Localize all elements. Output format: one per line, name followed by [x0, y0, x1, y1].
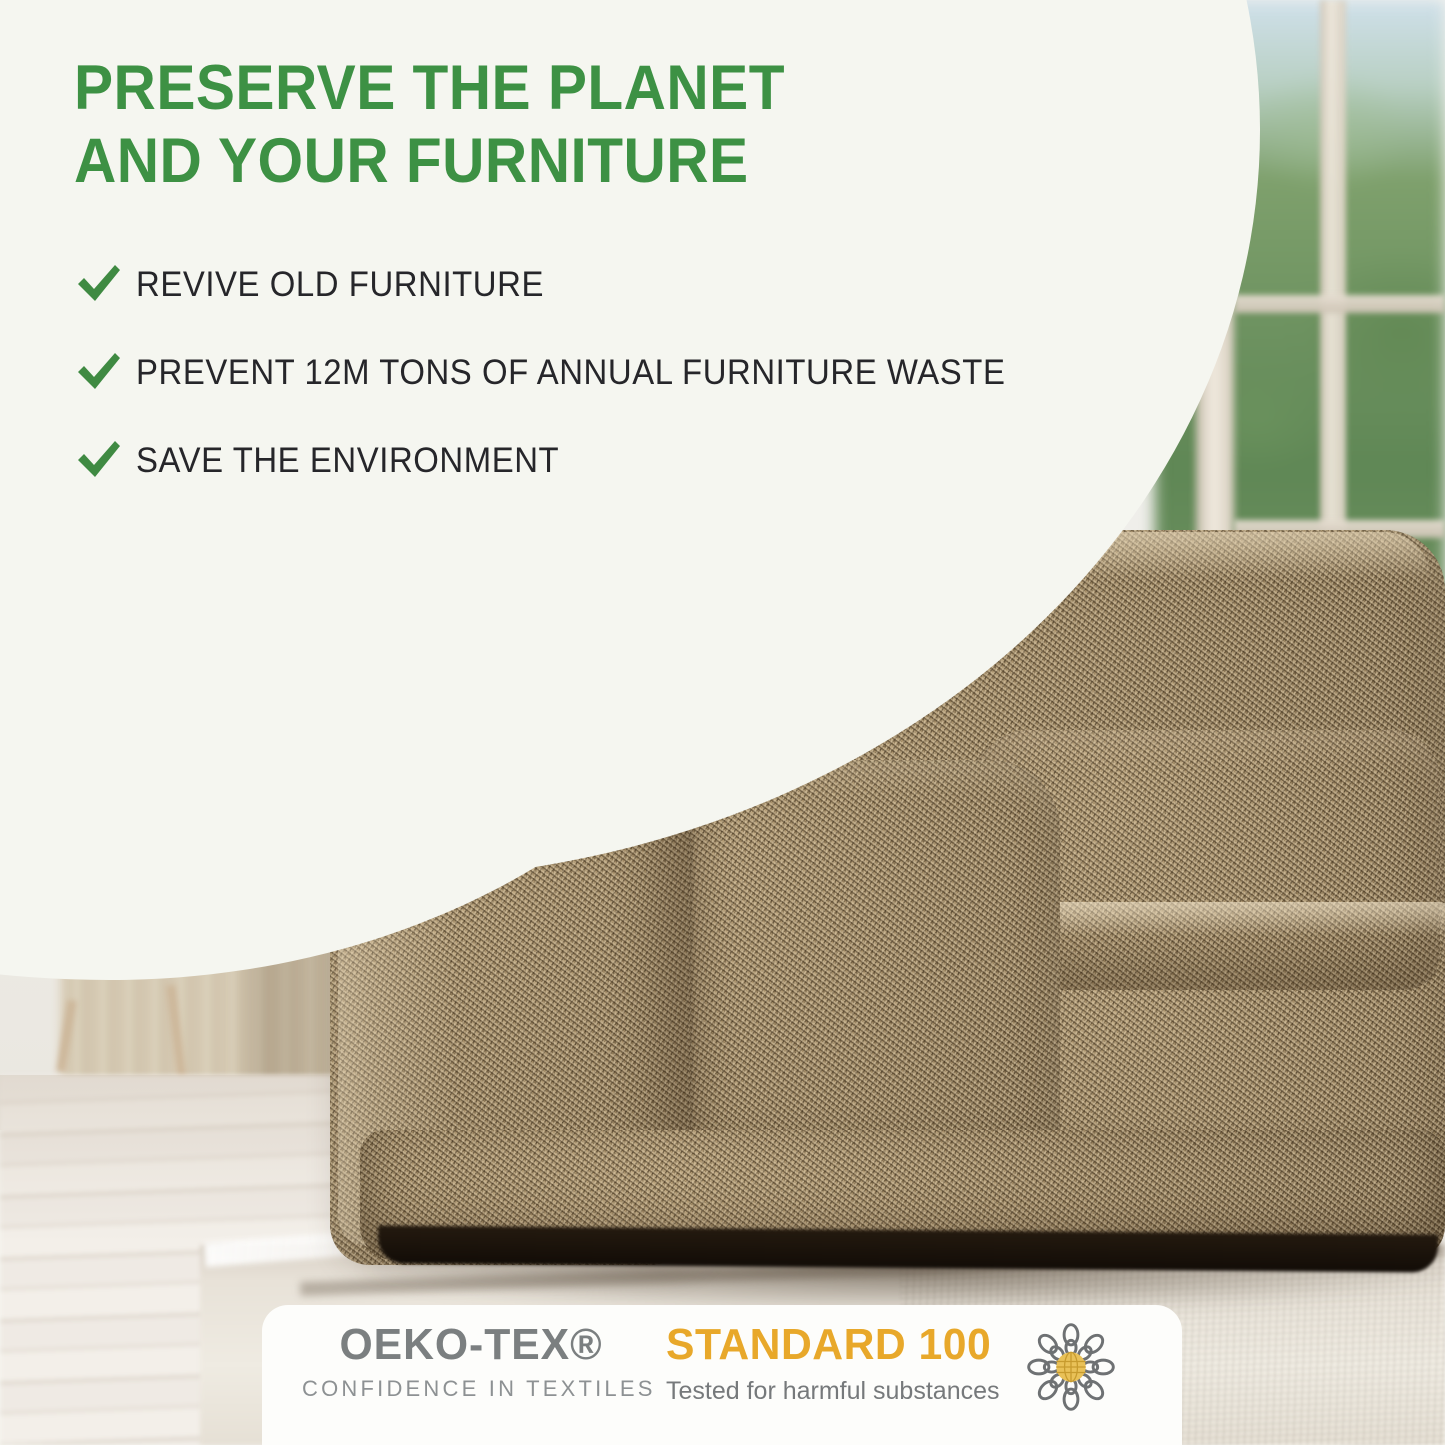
standard-title: STANDARD 100	[666, 1323, 991, 1367]
promo-image: PRESERVE THE PLANET AND YOUR FURNITURE R…	[0, 0, 1445, 1445]
benefit-label: PREVENT 12M TONS OF ANNUAL FURNITURE WAS…	[136, 353, 1005, 393]
benefit-list: REVIVE OLD FURNITURE PREVENT 12M TONS OF…	[74, 262, 1194, 526]
oeko-tex-flower-globe-icon	[1025, 1321, 1117, 1418]
list-item: REVIVE OLD FURNITURE	[74, 262, 1194, 308]
oeko-tex-tagline: CONFIDENCE IN TEXTILES	[302, 1376, 640, 1402]
headline-line-2: AND YOUR FURNITURE	[74, 125, 985, 198]
marketing-copy: PRESERVE THE PLANET AND YOUR FURNITURE R…	[0, 0, 1445, 1445]
oeko-tex-brand-block: OEKO-TEX® CONFIDENCE IN TEXTILES	[262, 1323, 640, 1402]
certification-badge: OEKO-TEX® CONFIDENCE IN TEXTILES STANDAR…	[262, 1305, 1182, 1445]
benefit-label: SAVE THE ENVIRONMENT	[136, 441, 559, 481]
oeko-tex-brand: OEKO-TEX®	[307, 1323, 635, 1367]
benefit-label: REVIVE OLD FURNITURE	[136, 265, 544, 305]
check-icon	[74, 349, 136, 398]
check-icon	[74, 261, 136, 310]
check-icon	[74, 437, 136, 486]
page-title: PRESERVE THE PLANET AND YOUR FURNITURE	[74, 52, 985, 198]
list-item: PREVENT 12M TONS OF ANNUAL FURNITURE WAS…	[74, 350, 1194, 396]
list-item: SAVE THE ENVIRONMENT	[74, 438, 1194, 484]
standard-block: STANDARD 100 Tested for harmful substanc…	[640, 1323, 1001, 1406]
standard-subtitle: Tested for harmful substances	[666, 1377, 1001, 1406]
headline-line-1: PRESERVE THE PLANET	[74, 53, 785, 123]
